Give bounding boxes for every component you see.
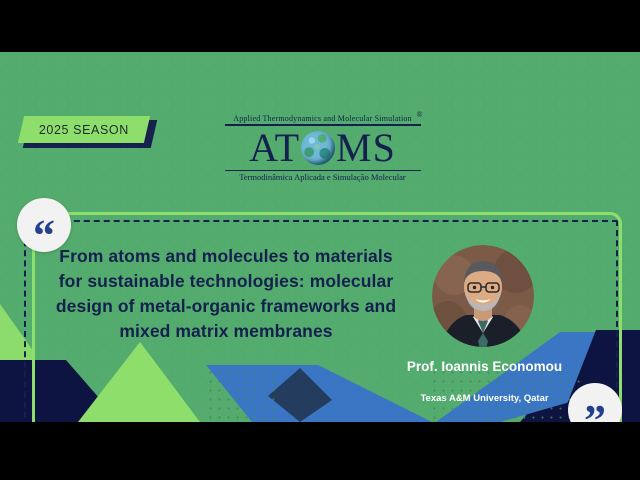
speaker-affiliation: Texas A&M University, Qatar: [392, 393, 577, 404]
close-quote-glyph: ”: [584, 399, 606, 422]
logo-word-right: MS: [336, 127, 396, 169]
talk-title: From atoms and molecules to materials fo…: [46, 244, 406, 344]
logo-wordmark: AT MS: [249, 127, 396, 169]
speaker-photo: [432, 245, 534, 347]
globe-icon: [301, 131, 335, 165]
logo-rule-bottom: [225, 170, 421, 172]
season-banner-label: 2025 SEASON: [39, 123, 129, 137]
logo-word-left: AT: [249, 127, 300, 169]
video-player-stage: 2025 SEASON Applied Thermodynamics and M…: [0, 0, 640, 480]
slide-frame: 2025 SEASON Applied Thermodynamics and M…: [0, 52, 640, 422]
season-banner: 2025 SEASON: [18, 116, 150, 143]
atoms-logo: Applied Thermodynamics and Molecular Sim…: [215, 114, 430, 188]
logo-tagline-top-text: Applied Thermodynamics and Molecular Sim…: [233, 114, 412, 123]
registered-trademark-icon: ®: [417, 110, 423, 119]
speaker-name: Prof. Ioannis Economou: [402, 359, 567, 375]
logo-tagline-top: Applied Thermodynamics and Molecular Sim…: [233, 114, 412, 123]
logo-tagline-bottom: Termodinâmica Aplicada e Simulação Molec…: [239, 172, 406, 182]
